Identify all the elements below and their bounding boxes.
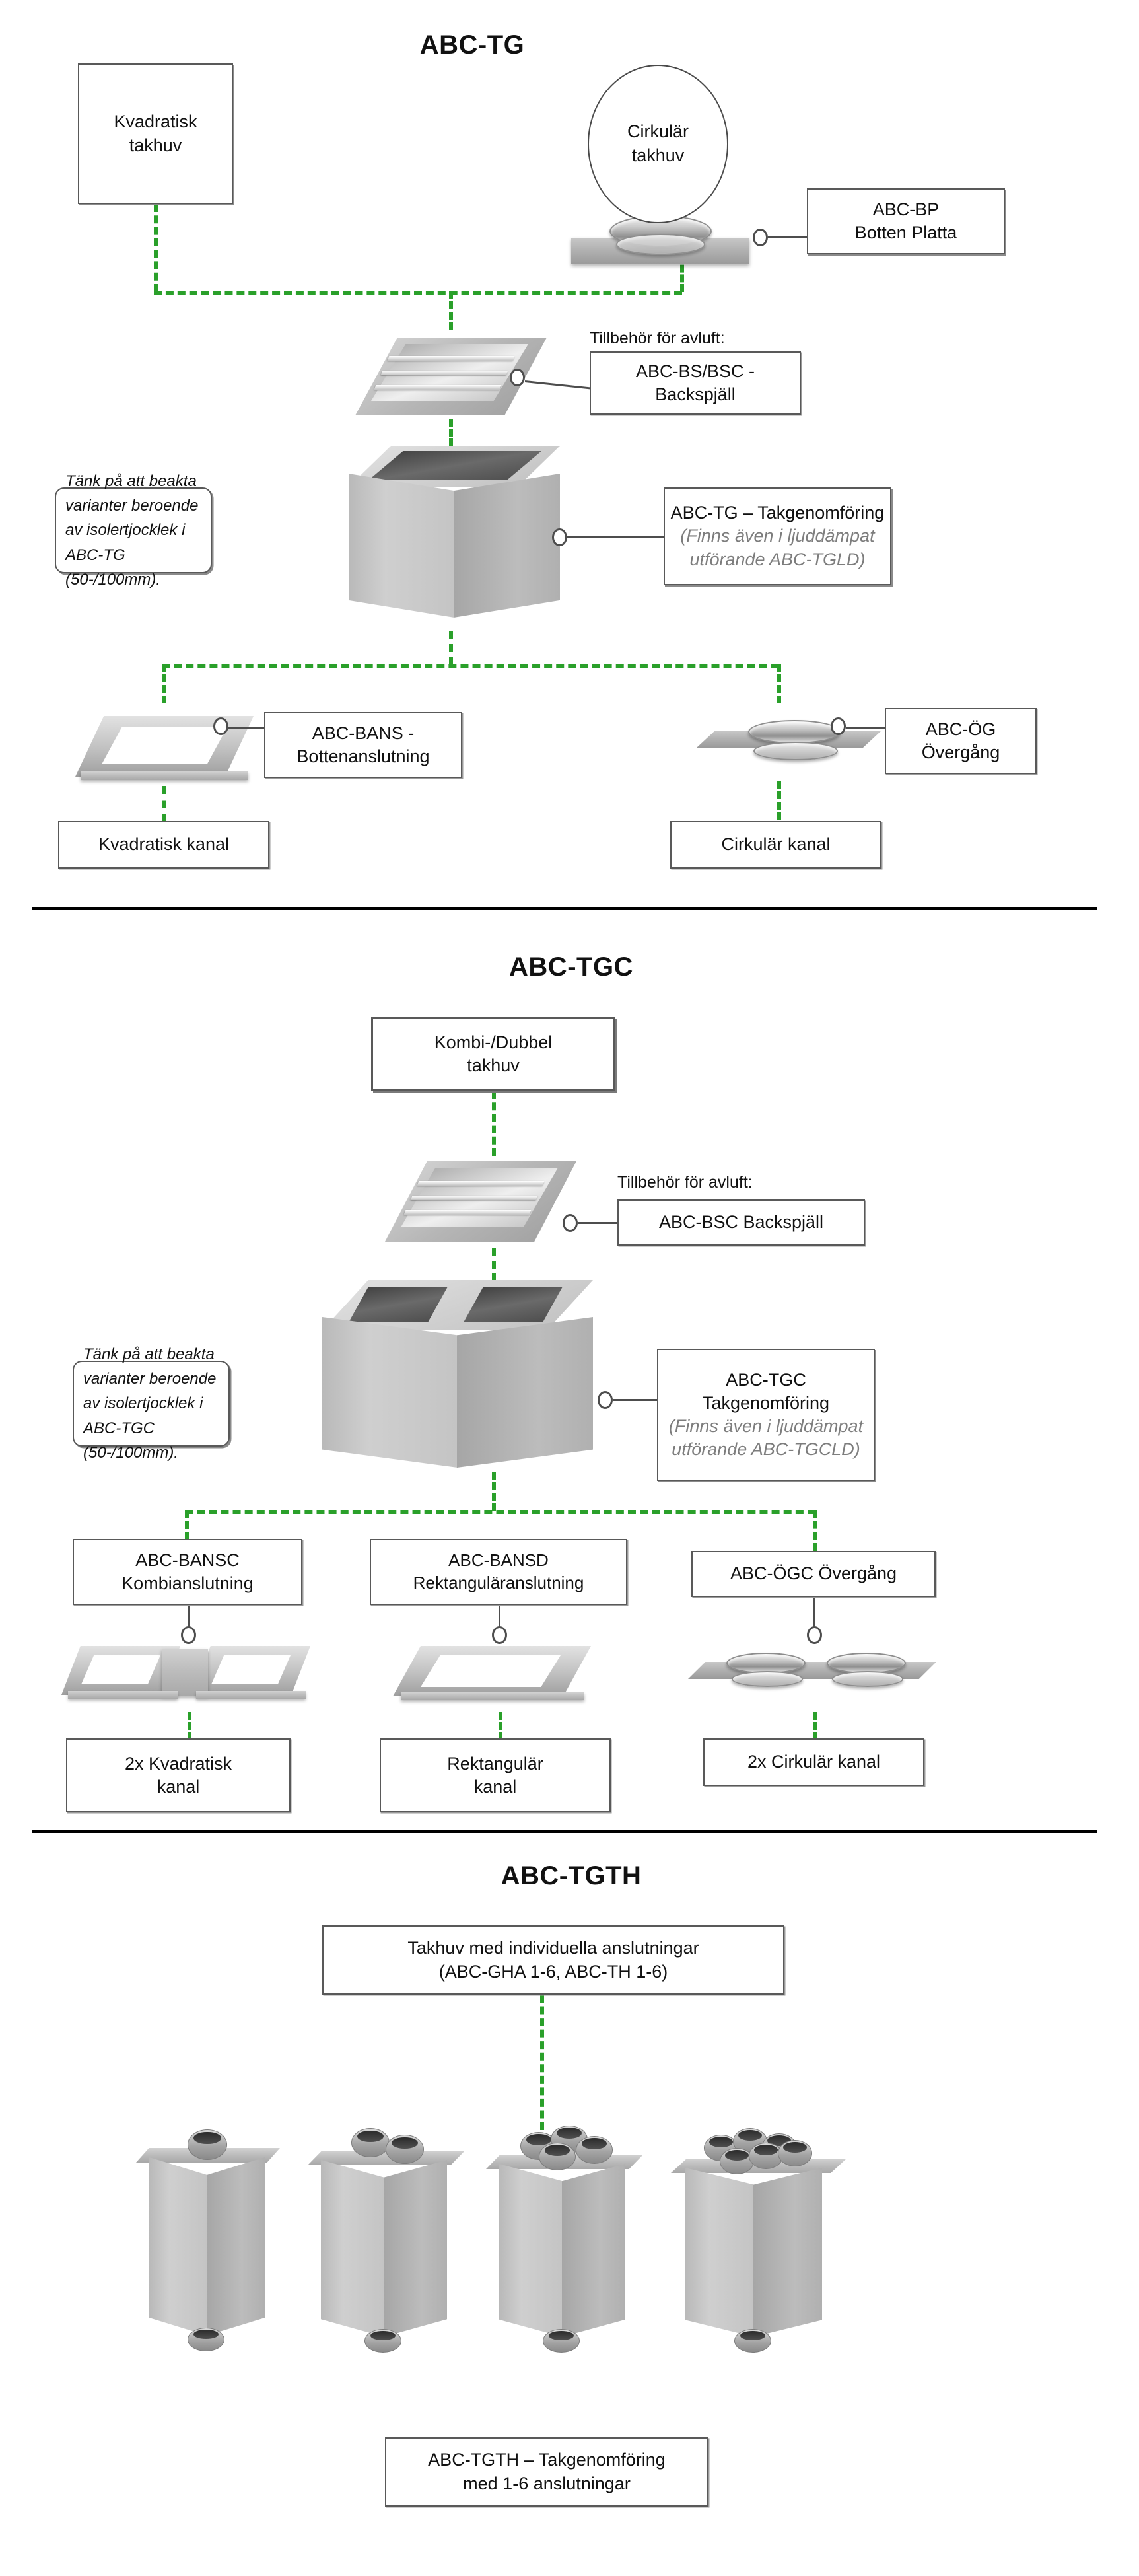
node-abc-tg-main[interactable]: ABC-TG – Takgenomföring (Finns även i lj… <box>664 487 891 585</box>
node-abc-tgc-main[interactable]: ABC-TGCTakgenomföring (Finns även i ljud… <box>657 1349 875 1481</box>
leader-bubble-bansc <box>181 1626 196 1644</box>
node-circular-duct-2x[interactable]: 2x Cirkulär kanal <box>703 1738 924 1786</box>
product-unit-tgth-4 <box>667 2114 852 2358</box>
section-title-abc-tg: ABC-TG <box>373 30 571 60</box>
connector-square-hood-down <box>154 204 158 292</box>
section-title-abc-tgth: ABC-TGTH <box>456 1861 687 1891</box>
caption-accessory-tgc: Tillbehör för avluft: <box>617 1173 868 1192</box>
node-abc-tg-main-sub: (Finns även i ljuddämpat utförande ABC-T… <box>670 524 885 571</box>
node-combi-hood-label: Kombi-/Dubbeltakhuv <box>434 1031 553 1077</box>
connector-bus-bottom-tgc <box>185 1510 815 1514</box>
connector-bus-to-backspjall <box>449 291 453 330</box>
product-image-backspjall-tgc <box>373 1149 591 1255</box>
node-square-duct-label: Kvadratisk kanal <box>98 833 229 856</box>
connector-bansd-down <box>499 1712 502 1740</box>
leader-line-bansd <box>499 1605 500 1629</box>
node-abc-bans-label: ABC-BANS -Bottenanslutning <box>296 722 429 768</box>
leader-bubble-abc-tgc-main <box>598 1391 613 1409</box>
connector-og-down <box>777 781 781 820</box>
node-tgth-caption-label: ABC-TGTH – Takgenomföringmed 1-6 anslutn… <box>428 2449 666 2495</box>
connector-bans-down <box>162 786 166 822</box>
leader-line-abc-tgc-main <box>613 1399 659 1401</box>
node-combi-hood[interactable]: Kombi-/Dubbeltakhuv <box>371 1017 615 1091</box>
leader-line-abc-bans <box>228 727 267 729</box>
node-abc-bs-bsc[interactable]: ABC-BS/BSC -Backspjäll <box>590 351 801 415</box>
node-abc-ogc[interactable]: ABC-ÖGC Övergång <box>691 1551 936 1597</box>
connector-combi-hood-down <box>492 1091 496 1156</box>
node-abc-bansd[interactable]: ABC-BANSDRektanguläranslutning <box>370 1539 627 1605</box>
connector-tgth-hood-down <box>540 1995 544 2130</box>
connector-ogc-down <box>813 1712 817 1740</box>
node-tgth-caption[interactable]: ABC-TGTH – Takgenomföringmed 1-6 anslutn… <box>385 2437 708 2507</box>
node-circular-duct-2x-label: 2x Cirkulär kanal <box>747 1750 880 1773</box>
connector-bansc-up <box>185 1510 189 1540</box>
product-unit-tgth-1 <box>132 2114 284 2358</box>
connector-bans-up <box>162 664 166 703</box>
node-abc-bansc[interactable]: ABC-BANSCKombianslutning <box>73 1539 302 1605</box>
node-abc-bsc[interactable]: ABC-BSC Backspjäll <box>617 1199 865 1246</box>
leader-line-abc-bp <box>768 236 809 238</box>
node-circular-hood[interactable]: Cirkulärtakhuv <box>588 65 728 223</box>
node-tgth-hood[interactable]: Takhuv med individuella anslutningar(ABC… <box>322 1925 784 1995</box>
product-image-abc-tgc-duct <box>317 1273 601 1478</box>
node-square-hood[interactable]: Kvadratisktakhuv <box>78 63 233 204</box>
product-image-abc-ogc <box>680 1637 944 1716</box>
product-image-abc-og <box>690 705 888 785</box>
leader-bubble-abc-tg-main <box>552 528 567 546</box>
node-abc-bansc-label: ABC-BANSCKombianslutning <box>121 1549 254 1595</box>
leader-line-bansc <box>188 1605 190 1629</box>
leader-bubble-abc-bans <box>213 717 228 735</box>
node-abc-tgc-main-title: ABC-TGCTakgenomföring <box>703 1369 829 1415</box>
node-square-duct-2x-label: 2x Kvadratiskkanal <box>125 1752 232 1799</box>
node-abc-bs-bsc-label: ABC-BS/BSC -Backspjäll <box>636 360 755 406</box>
note-isolertjocklek-tgc: Tänk på att beakta varianter beroende av… <box>73 1361 230 1447</box>
leader-bubble-bansd <box>492 1626 507 1644</box>
node-tgth-hood-label: Takhuv med individuella anslutningar(ABC… <box>407 1937 699 1983</box>
leader-line-ogc <box>813 1597 815 1630</box>
node-rect-duct[interactable]: Rektangulärkanal <box>380 1738 611 1812</box>
section-divider-1 <box>32 907 1097 910</box>
node-abc-og-label: ABC-ÖGÖvergång <box>922 718 1000 764</box>
product-unit-tgth-3 <box>482 2114 647 2358</box>
connector-bansc-down <box>188 1712 191 1740</box>
node-abc-ogc-label: ABC-ÖGC Övergång <box>730 1562 897 1585</box>
note-isolertjocklek-tg-text: Tänk på att beakta varianter beroende av… <box>65 469 201 592</box>
node-abc-tgc-main-sub: (Finns även i ljuddämpat utförande ABC-T… <box>664 1415 868 1461</box>
connector-bus-bottom-tg <box>162 664 779 668</box>
node-square-hood-label: Kvadratisktakhuv <box>114 110 197 157</box>
section-title-abc-tgc: ABC-TGC <box>462 952 680 982</box>
product-image-backspjall-tg <box>343 327 561 426</box>
leader-bubble-backspjall-tg <box>510 369 525 386</box>
node-abc-bsc-label: ABC-BSC Backspjäll <box>659 1211 823 1234</box>
node-abc-bp[interactable]: ABC-BPBotten Platta <box>807 188 1005 254</box>
product-image-abc-tg-duct <box>343 439 568 637</box>
leader-line-abc-og <box>846 727 887 729</box>
node-abc-bans[interactable]: ABC-BANS -Bottenanslutning <box>264 712 462 778</box>
product-image-abc-bansd <box>386 1637 611 1716</box>
leader-bubble-abc-og <box>831 717 846 735</box>
product-image-abc-bansc <box>56 1637 320 1716</box>
note-isolertjocklek-tg: Tänk på att beakta varianter beroende av… <box>55 487 212 573</box>
leader-bubble-abc-bsc <box>563 1214 578 1232</box>
leader-line-abc-tg-main <box>567 536 666 538</box>
leader-bubble-ogc <box>807 1626 822 1644</box>
caption-accessory-tg: Tillbehör för avluft: <box>590 329 827 348</box>
node-circular-hood-label: Cirkulärtakhuv <box>627 120 689 167</box>
node-abc-bansd-label: ABC-BANSDRektanguläranslutning <box>413 1550 584 1594</box>
node-abc-tg-main-title: ABC-TG – Takgenomföring <box>671 501 885 524</box>
leader-bubble-abc-bp <box>753 229 768 246</box>
node-square-duct[interactable]: Kvadratisk kanal <box>58 821 269 869</box>
node-circular-duct[interactable]: Cirkulär kanal <box>670 821 881 869</box>
node-abc-og[interactable]: ABC-ÖGÖvergång <box>885 708 1037 774</box>
product-image-abc-bans <box>66 705 264 791</box>
section-divider-2 <box>32 1830 1097 1833</box>
connector-og-up <box>777 664 781 703</box>
node-square-duct-2x[interactable]: 2x Kvadratiskkanal <box>66 1738 291 1812</box>
node-abc-bp-label: ABC-BPBotten Platta <box>855 198 957 244</box>
leader-line-abc-bsc <box>578 1222 619 1224</box>
connector-ogc-up <box>813 1510 817 1551</box>
node-circular-duct-label: Cirkulär kanal <box>721 833 830 856</box>
product-unit-tgth-2 <box>304 2114 469 2358</box>
note-isolertjocklek-tgc-text: Tänk på att beakta varianter beroende av… <box>83 1342 219 1465</box>
connector-bus-top <box>154 291 682 295</box>
node-rect-duct-label: Rektangulärkanal <box>447 1752 543 1799</box>
